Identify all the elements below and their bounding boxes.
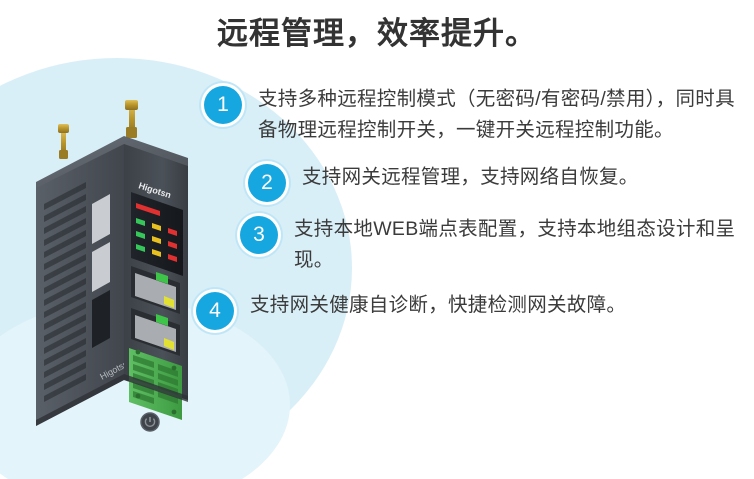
- page-title: 远程管理，效率提升。: [0, 8, 754, 53]
- feature-text-3: 支持本地WEB端点表配置，支持本地组态设计和呈现。: [294, 214, 748, 276]
- feature-badge-2: 2: [248, 164, 286, 202]
- feature-badge-1: 1: [204, 86, 242, 124]
- feature-text-2: 支持网关远程管理，支持网络自恢复。: [302, 162, 639, 193]
- feature-list: 1 支持多种远程控制模式（无密码/有密码/禁用），同时具备物理远程控制开关，一键…: [196, 84, 748, 346]
- feature-badge-4: 4: [196, 292, 234, 330]
- feature-item-1: 1 支持多种远程控制模式（无密码/有密码/禁用），同时具备物理远程控制开关，一键…: [204, 84, 748, 146]
- feature-item-2: 2 支持网关远程管理，支持网络自恢复。: [248, 162, 748, 202]
- feature-text-1: 支持多种远程控制模式（无密码/有密码/禁用），同时具备物理远程控制开关，一键开关…: [258, 84, 748, 146]
- feature-item-4: 4 支持网关健康自诊断，快捷检测网关故障。: [196, 290, 748, 330]
- device-side-labels: [92, 194, 110, 348]
- antenna-left: [58, 124, 69, 159]
- antenna-right: [125, 100, 138, 138]
- feature-text-4: 支持网关健康自诊断，快捷检测网关故障。: [250, 290, 626, 321]
- feature-badge-3: 3: [240, 216, 278, 254]
- power-button: [141, 413, 159, 431]
- promo-banner: 远程管理，效率提升。: [0, 0, 754, 479]
- feature-item-3: 3 支持本地WEB端点表配置，支持本地组态设计和呈现。: [240, 214, 748, 276]
